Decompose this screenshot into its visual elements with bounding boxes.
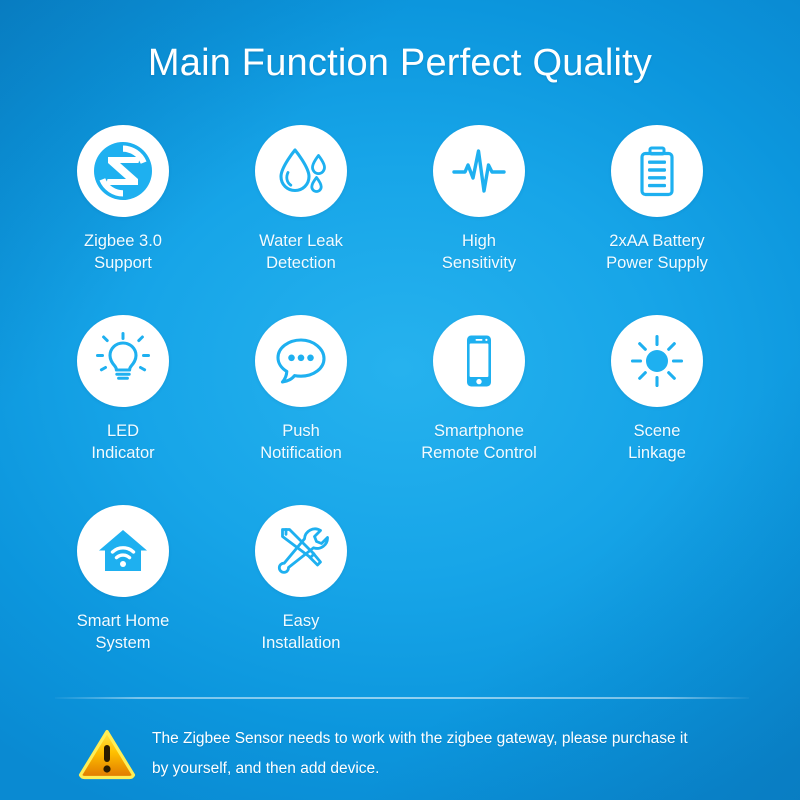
feature-row: Zigbee 3.0 Support Water Leak Detection xyxy=(34,125,766,315)
feature-icon-circle xyxy=(255,505,347,597)
feature-icon-circle xyxy=(77,125,169,217)
promo-page: Main Function Perfect Quality Zigbee 3.0… xyxy=(0,0,800,800)
footer-divider xyxy=(55,697,749,699)
sun-icon xyxy=(629,333,685,389)
footer-note: The Zigbee Sensor needs to work with the… xyxy=(78,722,758,785)
feature-item-zigbee[interactable]: Zigbee 3.0 Support xyxy=(34,125,212,315)
zigbee-logo-icon xyxy=(92,140,154,202)
feature-item-scene-linkage[interactable]: Scene Linkage xyxy=(568,315,746,505)
feature-icon-circle xyxy=(611,125,703,217)
footer-note-line2: by yourself, and then add device. xyxy=(152,754,688,784)
feature-icon-circle xyxy=(77,315,169,407)
feature-item-smartphone-remote[interactable]: Smartphone Remote Control xyxy=(390,315,568,505)
feature-item-push-notification[interactable]: Push Notification xyxy=(212,315,390,505)
speech-bubble-icon xyxy=(272,332,330,390)
footer-note-text: The Zigbee Sensor needs to work with the… xyxy=(144,722,688,784)
feature-item-water-leak[interactable]: Water Leak Detection xyxy=(212,125,390,315)
water-drop-icon xyxy=(272,142,330,200)
feature-icon-circle xyxy=(255,125,347,217)
feature-label: Push Notification xyxy=(260,421,342,465)
warning-triangle-icon xyxy=(78,722,144,785)
feature-label: 2xAA Battery Power Supply xyxy=(606,231,708,275)
feature-item-easy-installation[interactable]: Easy Installation xyxy=(212,505,390,695)
feature-row: Smart Home System xyxy=(34,505,766,695)
light-bulb-icon xyxy=(94,332,152,390)
feature-label: Scene Linkage xyxy=(628,421,686,465)
feature-icon-circle xyxy=(77,505,169,597)
feature-label: High Sensitivity xyxy=(442,231,516,275)
feature-item-led-indicator[interactable]: LED Indicator xyxy=(34,315,212,505)
home-wifi-icon xyxy=(94,522,152,580)
feature-label: Easy Installation xyxy=(262,611,341,655)
feature-grid: Zigbee 3.0 Support Water Leak Detection xyxy=(34,125,766,695)
feature-label: Zigbee 3.0 Support xyxy=(84,231,162,275)
feature-item-high-sensitivity[interactable]: High Sensitivity xyxy=(390,125,568,315)
feature-icon-circle xyxy=(255,315,347,407)
feature-label: LED Indicator xyxy=(91,421,154,465)
feature-item-smart-home[interactable]: Smart Home System xyxy=(34,505,212,695)
pulse-waveform-icon xyxy=(449,141,509,201)
feature-label: Smartphone Remote Control xyxy=(421,421,537,465)
feature-item-battery[interactable]: 2xAA Battery Power Supply xyxy=(568,125,746,315)
feature-icon-circle xyxy=(433,125,525,217)
feature-icon-circle xyxy=(611,315,703,407)
feature-label: Water Leak Detection xyxy=(259,231,343,275)
screwdriver-wrench-icon xyxy=(273,523,329,579)
page-title: Main Function Perfect Quality xyxy=(0,42,800,85)
battery-icon xyxy=(629,143,685,199)
feature-label: Smart Home System xyxy=(77,611,170,655)
footer-note-line1: The Zigbee Sensor needs to work with the… xyxy=(152,730,688,747)
smartphone-icon xyxy=(451,333,507,389)
feature-row: LED Indicator Push Notification xyxy=(34,315,766,505)
feature-icon-circle xyxy=(433,315,525,407)
